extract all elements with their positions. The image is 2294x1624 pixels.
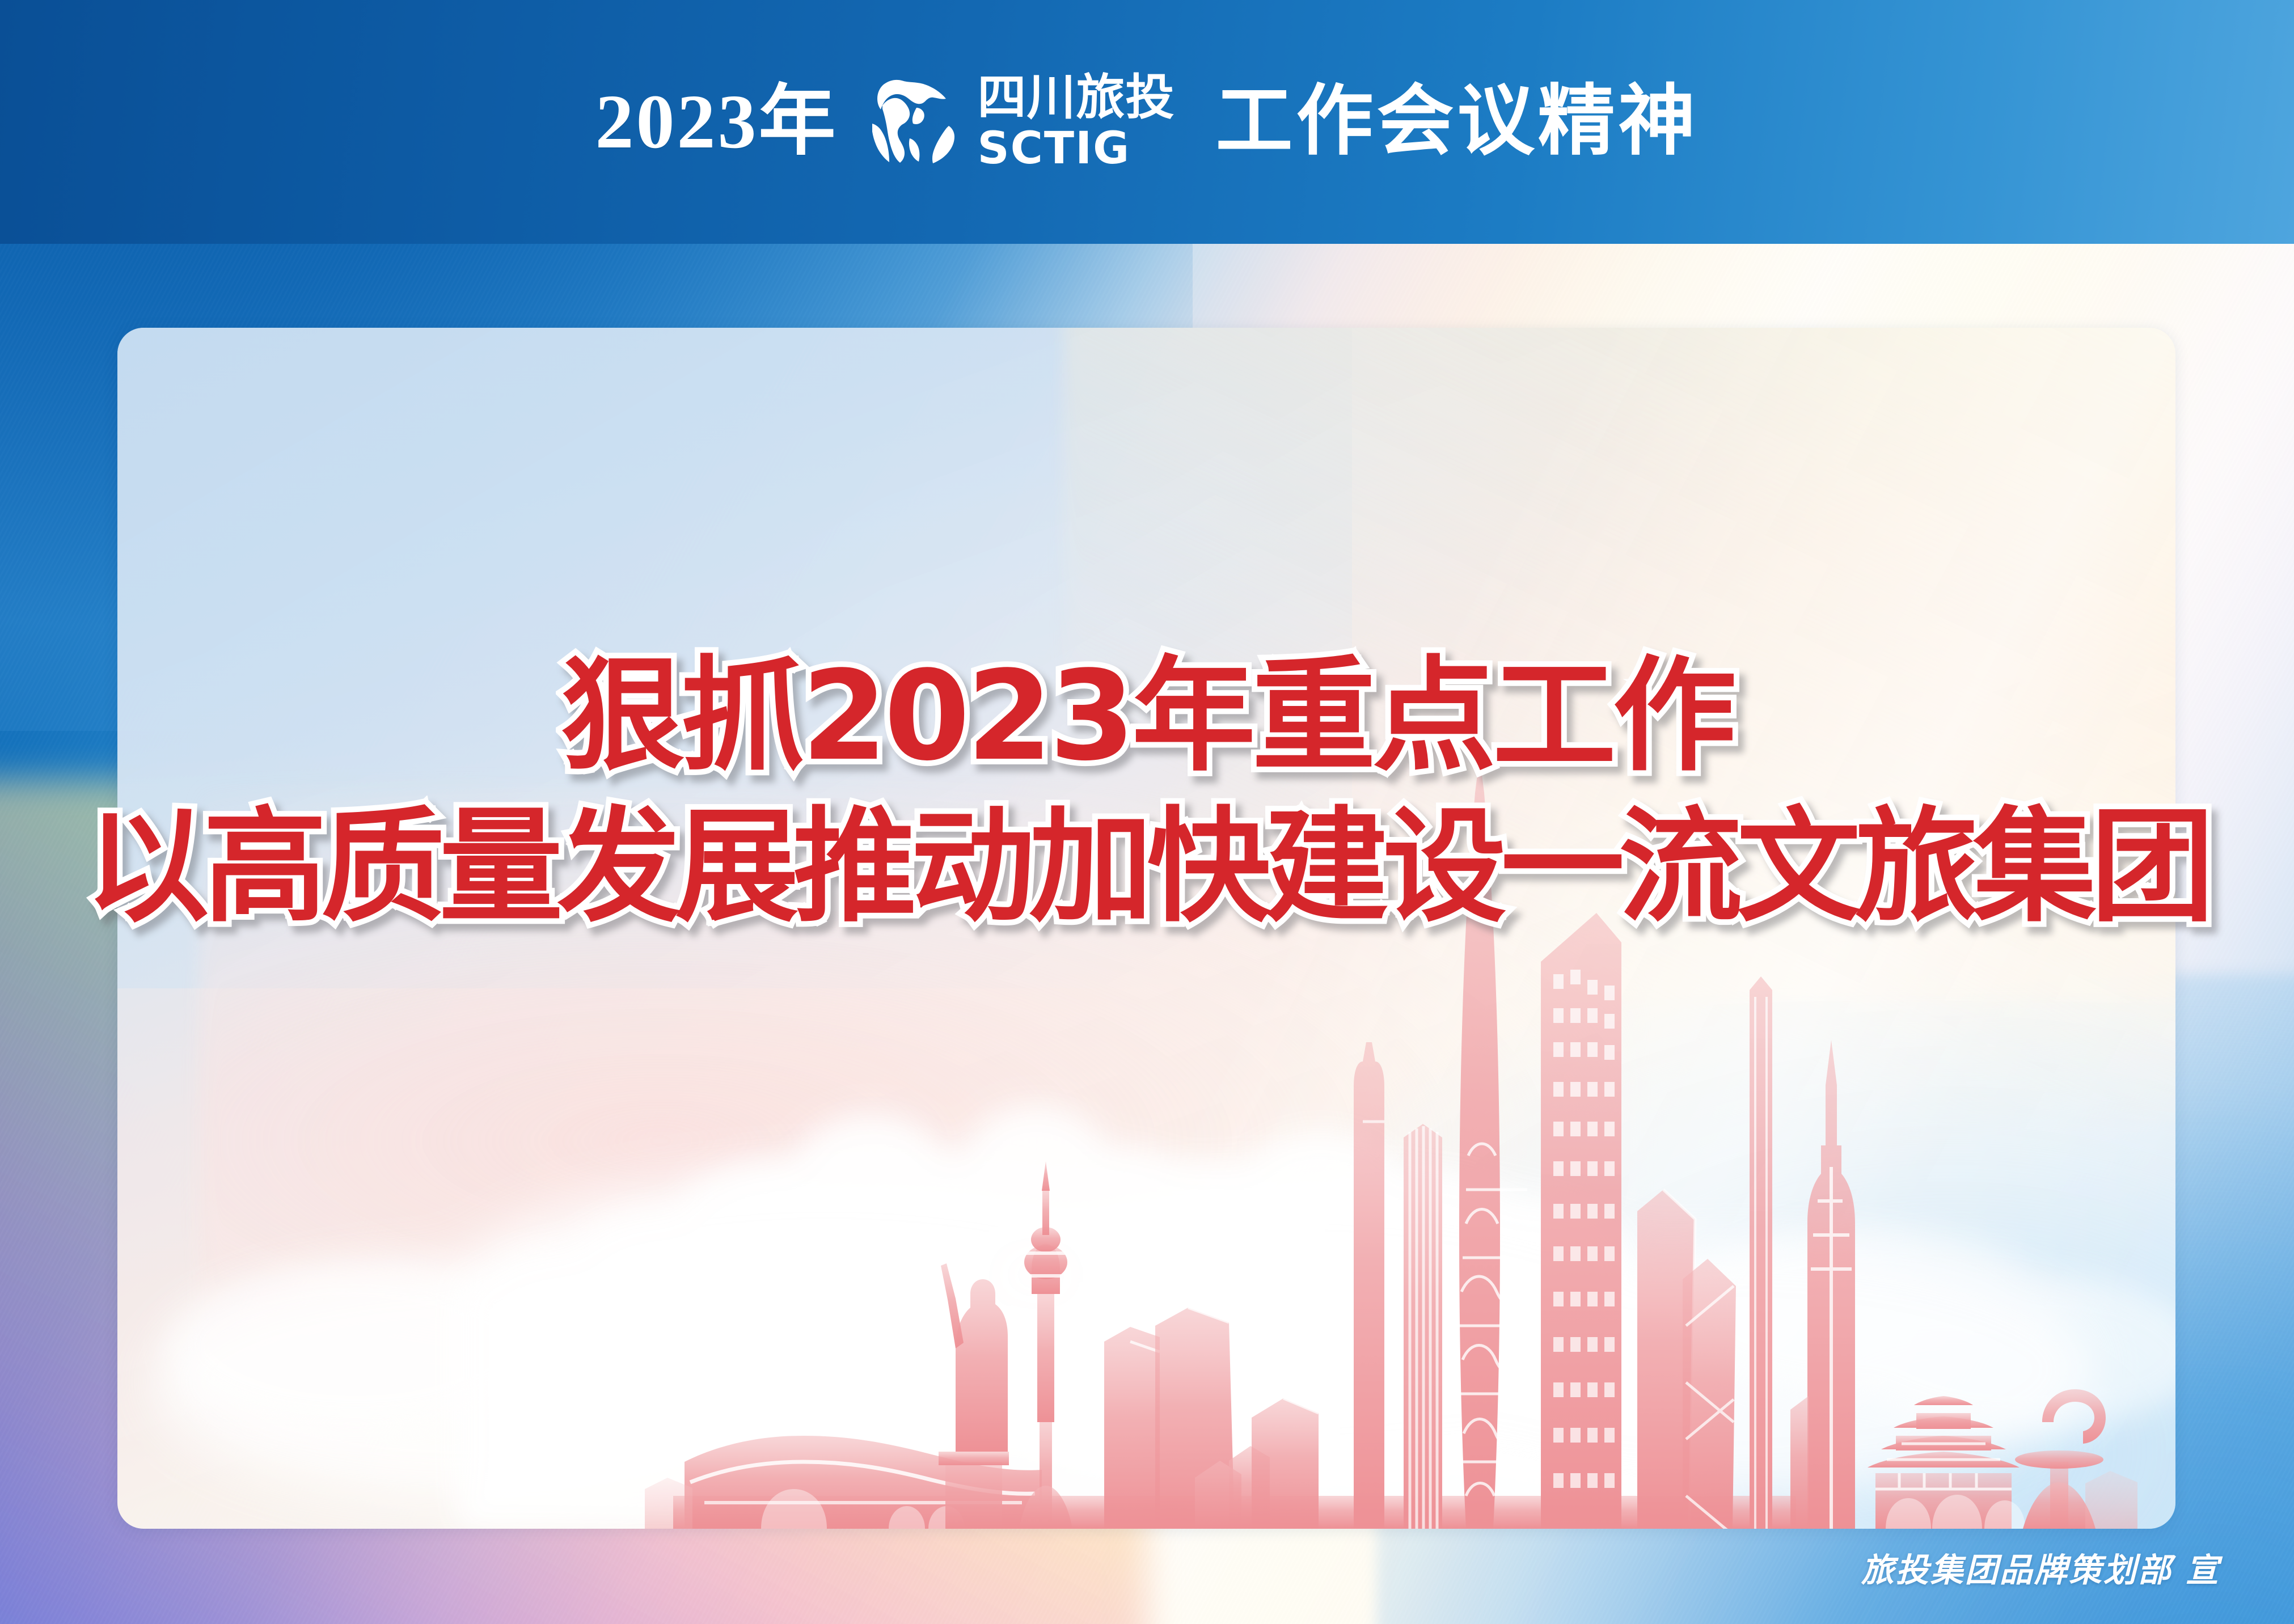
header-year-label: 2023年 xyxy=(595,83,838,160)
header-suffix-label: 工作会议精神 xyxy=(1216,83,1699,160)
poster-header-band: 2023年 四川旅投 SCTIG 工作会议精神 xyxy=(0,0,2294,244)
logo-english-name: SCTIG xyxy=(978,126,1131,171)
logo-chinese-name: 四川旅投 xyxy=(978,73,1175,122)
footer-credit-label: 旅投集团品牌策划部 宣 xyxy=(1861,1543,2220,1591)
logo-wordmark: 四川旅投 SCTIG xyxy=(978,73,1175,171)
main-content-card xyxy=(117,328,2175,1529)
sctig-logo: 四川旅投 SCTIG xyxy=(869,73,1175,171)
city-skyline-silhouette-icon xyxy=(117,328,2175,1529)
globe-panda-logo-icon xyxy=(869,79,963,164)
